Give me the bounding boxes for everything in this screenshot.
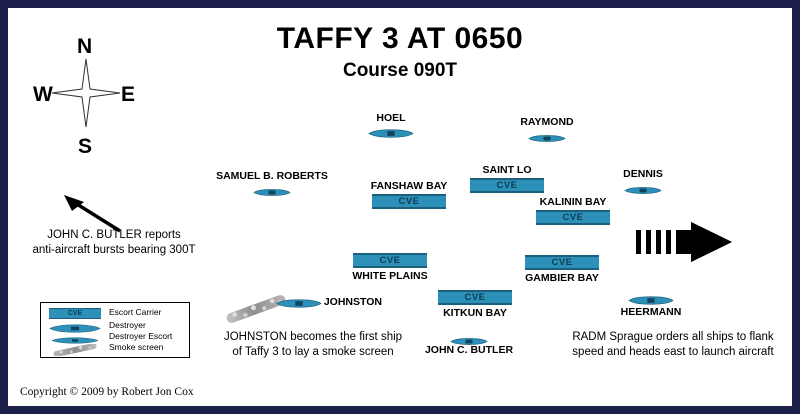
ship-name-label: FANSHAW BAY	[371, 180, 448, 192]
cve-badge: CVE	[438, 290, 512, 305]
map-canvas: TAFFY 3 AT 0650 Course 090T N S W E JOHN…	[8, 8, 792, 406]
annotation-line: RADM Sprague orders all ships to flank	[553, 330, 792, 345]
ship-name-label: JOHN C. BUTLER	[425, 344, 513, 356]
cve-badge: CVE	[372, 194, 446, 209]
annotation-line: JOHN C. BUTLER reports	[14, 228, 214, 243]
annotation-john-c-butler-report: JOHN C. BUTLER reports anti-aircraft bur…	[14, 228, 214, 258]
annotation-line: of Taffy 3 to lay a smoke screen	[198, 345, 428, 360]
ship-unit[interactable]: JOHNSTON	[276, 296, 322, 307]
compass-label-north: N	[77, 36, 92, 57]
ship-unit[interactable]: RAYMOND	[528, 130, 566, 139]
legend-symbol-cve: CVE	[49, 308, 101, 320]
compass-star-icon	[50, 57, 122, 129]
ship-unit[interactable]: CVEKALININ BAY	[536, 210, 610, 225]
legend-item-escort-carrier: CVE Escort Carrier	[41, 308, 189, 320]
ship-unit[interactable]: CVEWHITE PLAINS	[353, 253, 427, 268]
ship-name-label: HEERMANN	[621, 306, 682, 318]
compass-label-south: S	[78, 136, 92, 157]
legend-label: Destroyer Escort	[109, 331, 172, 341]
ship-unit[interactable]: CVESAINT LO	[470, 178, 544, 193]
legend-label: Escort Carrier	[109, 307, 161, 317]
ship-unit[interactable]: DENNIS	[624, 182, 662, 191]
cve-badge: CVE	[525, 255, 599, 270]
ship-unit[interactable]: HOEL	[368, 126, 414, 137]
annotation-line: anti-aircraft bursts bearing 300T	[14, 243, 214, 258]
ship-name-label: SAMUEL B. ROBERTS	[216, 170, 328, 182]
ship-name-label: RAYMOND	[520, 116, 573, 128]
compass-label-east: E	[121, 84, 135, 105]
annotation-sprague-orders: RADM Sprague orders all ships to flank s…	[553, 330, 792, 360]
east-heading-arrow-icon	[636, 220, 734, 264]
ship-name-label: HOEL	[376, 112, 405, 124]
legend-symbol-smoke	[49, 343, 101, 355]
cve-badge: CVE	[49, 308, 101, 319]
ship-name-label: KALININ BAY	[540, 196, 607, 208]
smoke-screen-icon	[49, 344, 101, 356]
ship-unit[interactable]: CVEFANSHAW BAY	[372, 194, 446, 209]
ship-unit[interactable]: SAMUEL B. ROBERTS	[253, 184, 291, 193]
cve-badge: CVE	[536, 210, 610, 225]
ship-unit[interactable]: HEERMANN	[628, 293, 674, 304]
ship-name-label: DENNIS	[623, 168, 663, 180]
annotation-johnston-smoke: JOHNSTON becomes the first ship of Taffy…	[198, 330, 428, 360]
cve-badge: CVE	[470, 178, 544, 193]
legend-item-smoke-screen: Smoke screen	[41, 343, 189, 355]
ship-unit[interactable]: CVEKITKUN BAY	[438, 290, 512, 305]
ship-name-label: JOHNSTON	[324, 296, 382, 308]
ship-unit[interactable]: JOHN C. BUTLER	[450, 333, 488, 342]
ship-name-label: GAMBIER BAY	[525, 272, 599, 284]
ship-unit[interactable]: CVEGAMBIER BAY	[525, 255, 599, 270]
legend-label: Destroyer	[109, 320, 146, 330]
ship-name-label: KITKUN BAY	[443, 307, 507, 319]
ship-name-label: WHITE PLAINS	[352, 270, 427, 282]
legend-box: CVE Escort Carrier Destroyer	[40, 302, 190, 358]
ship-name-label: SAINT LO	[483, 164, 532, 176]
legend-label: Smoke screen	[109, 342, 163, 352]
annotation-line: speed and heads east to launch aircraft	[553, 345, 792, 360]
annotation-line: JOHNSTON becomes the first ship	[198, 330, 428, 345]
compass-rose: N S W E	[20, 22, 150, 172]
cve-badge: CVE	[353, 253, 427, 268]
copyright-notice: Copyright © 2009 by Robert Jon Cox	[20, 386, 194, 398]
diagram-page: TAFFY 3 AT 0650 Course 090T N S W E JOHN…	[0, 0, 800, 414]
